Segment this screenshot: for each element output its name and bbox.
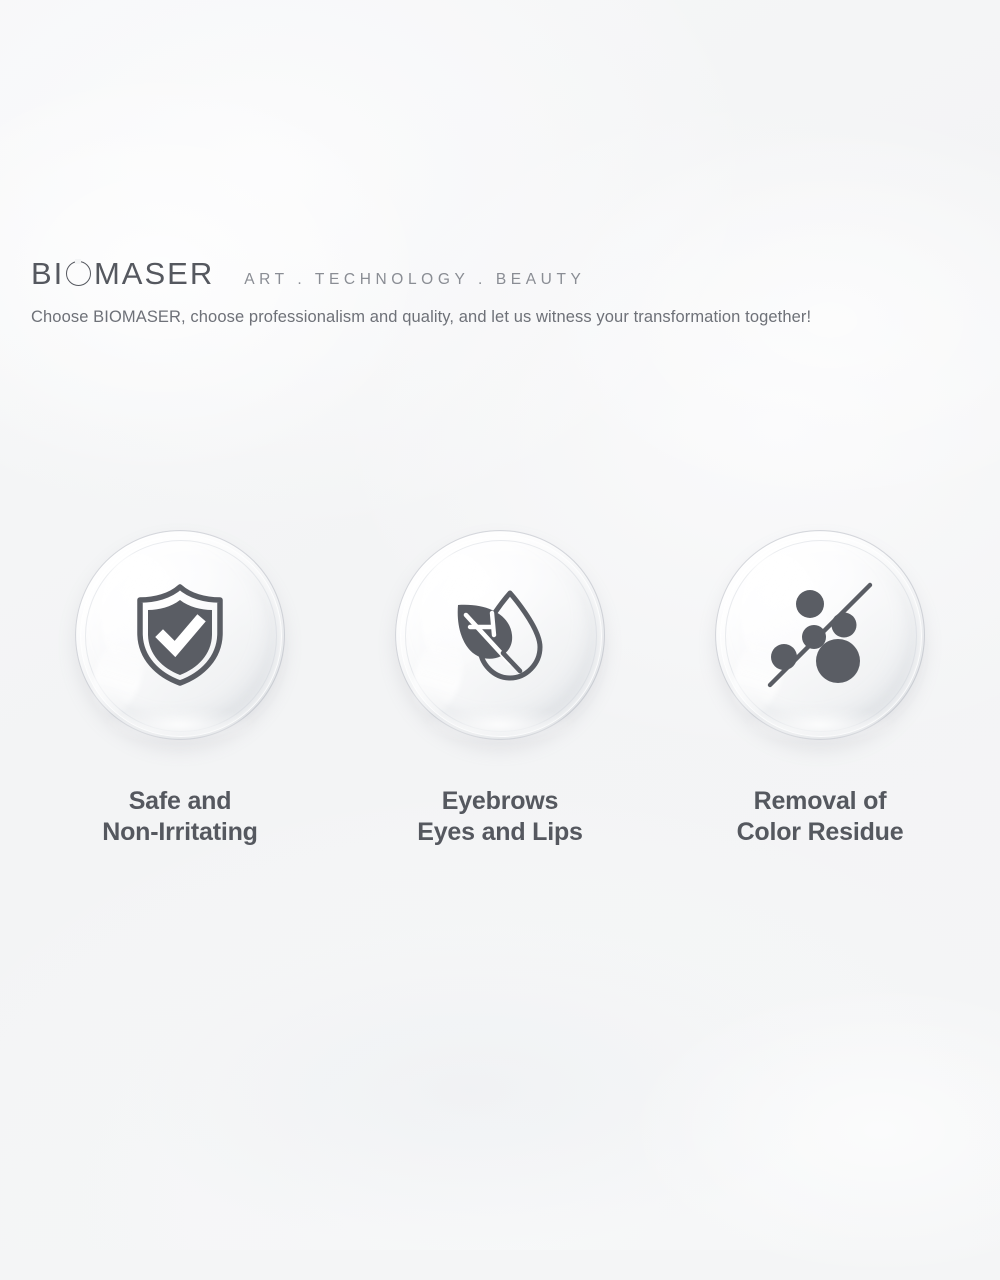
orb-icon-slot <box>75 530 285 740</box>
orb-icon-slot <box>395 530 605 740</box>
pigment-removal-icon <box>762 577 878 693</box>
droplet-leaf-icon <box>448 583 552 687</box>
brand-row: BIMASER ART . TECHNOLOGY . BEAUTY <box>31 258 961 294</box>
glass-orb <box>395 520 605 760</box>
feature-caption: Removal of Color Residue <box>737 786 904 847</box>
feature-caption-line-1: Eyebrows <box>417 786 583 817</box>
feature-caption: Eyebrows Eyes and Lips <box>417 786 583 847</box>
glass-orb <box>715 520 925 760</box>
header: BIMASER ART . TECHNOLOGY . BEAUTY Choose… <box>31 258 961 330</box>
feature-caption-line-2: Eyes and Lips <box>417 817 583 848</box>
feature-caption-line-2: Color Residue <box>737 817 904 848</box>
orb-icon-slot <box>715 530 925 740</box>
feature-caption-line-1: Safe and <box>102 786 258 817</box>
brand-logo-suffix: MASER <box>94 258 214 289</box>
feature-caption-line-2: Non-Irritating <box>102 817 258 848</box>
background-wash <box>620 980 1000 1280</box>
feature-item-safe-non-irritating: Safe and Non-Irritating <box>75 520 285 847</box>
feature-caption: Safe and Non-Irritating <box>102 786 258 847</box>
feature-list: Safe and Non-Irritating <box>0 520 1000 847</box>
brand-tagline: ART . TECHNOLOGY . BEAUTY <box>244 271 585 289</box>
brand-logo: BIMASER <box>31 258 214 289</box>
feature-item-removal-color-residue: Removal of Color Residue <box>715 520 925 847</box>
feature-caption-line-1: Removal of <box>737 786 904 817</box>
brand-logo-prefix: BI <box>31 258 64 289</box>
intro-paragraph: Choose BIOMASER, choose professionalism … <box>31 306 943 330</box>
glass-orb <box>75 520 285 760</box>
background-wash <box>120 930 820 1250</box>
feature-item-eyebrows-eyes-lips: Eyebrows Eyes and Lips <box>395 520 605 847</box>
product-feature-banner: BIMASER ART . TECHNOLOGY . BEAUTY Choose… <box>0 0 1000 1250</box>
shield-check-icon <box>132 583 228 687</box>
brand-logo-o-glyph <box>66 261 91 286</box>
